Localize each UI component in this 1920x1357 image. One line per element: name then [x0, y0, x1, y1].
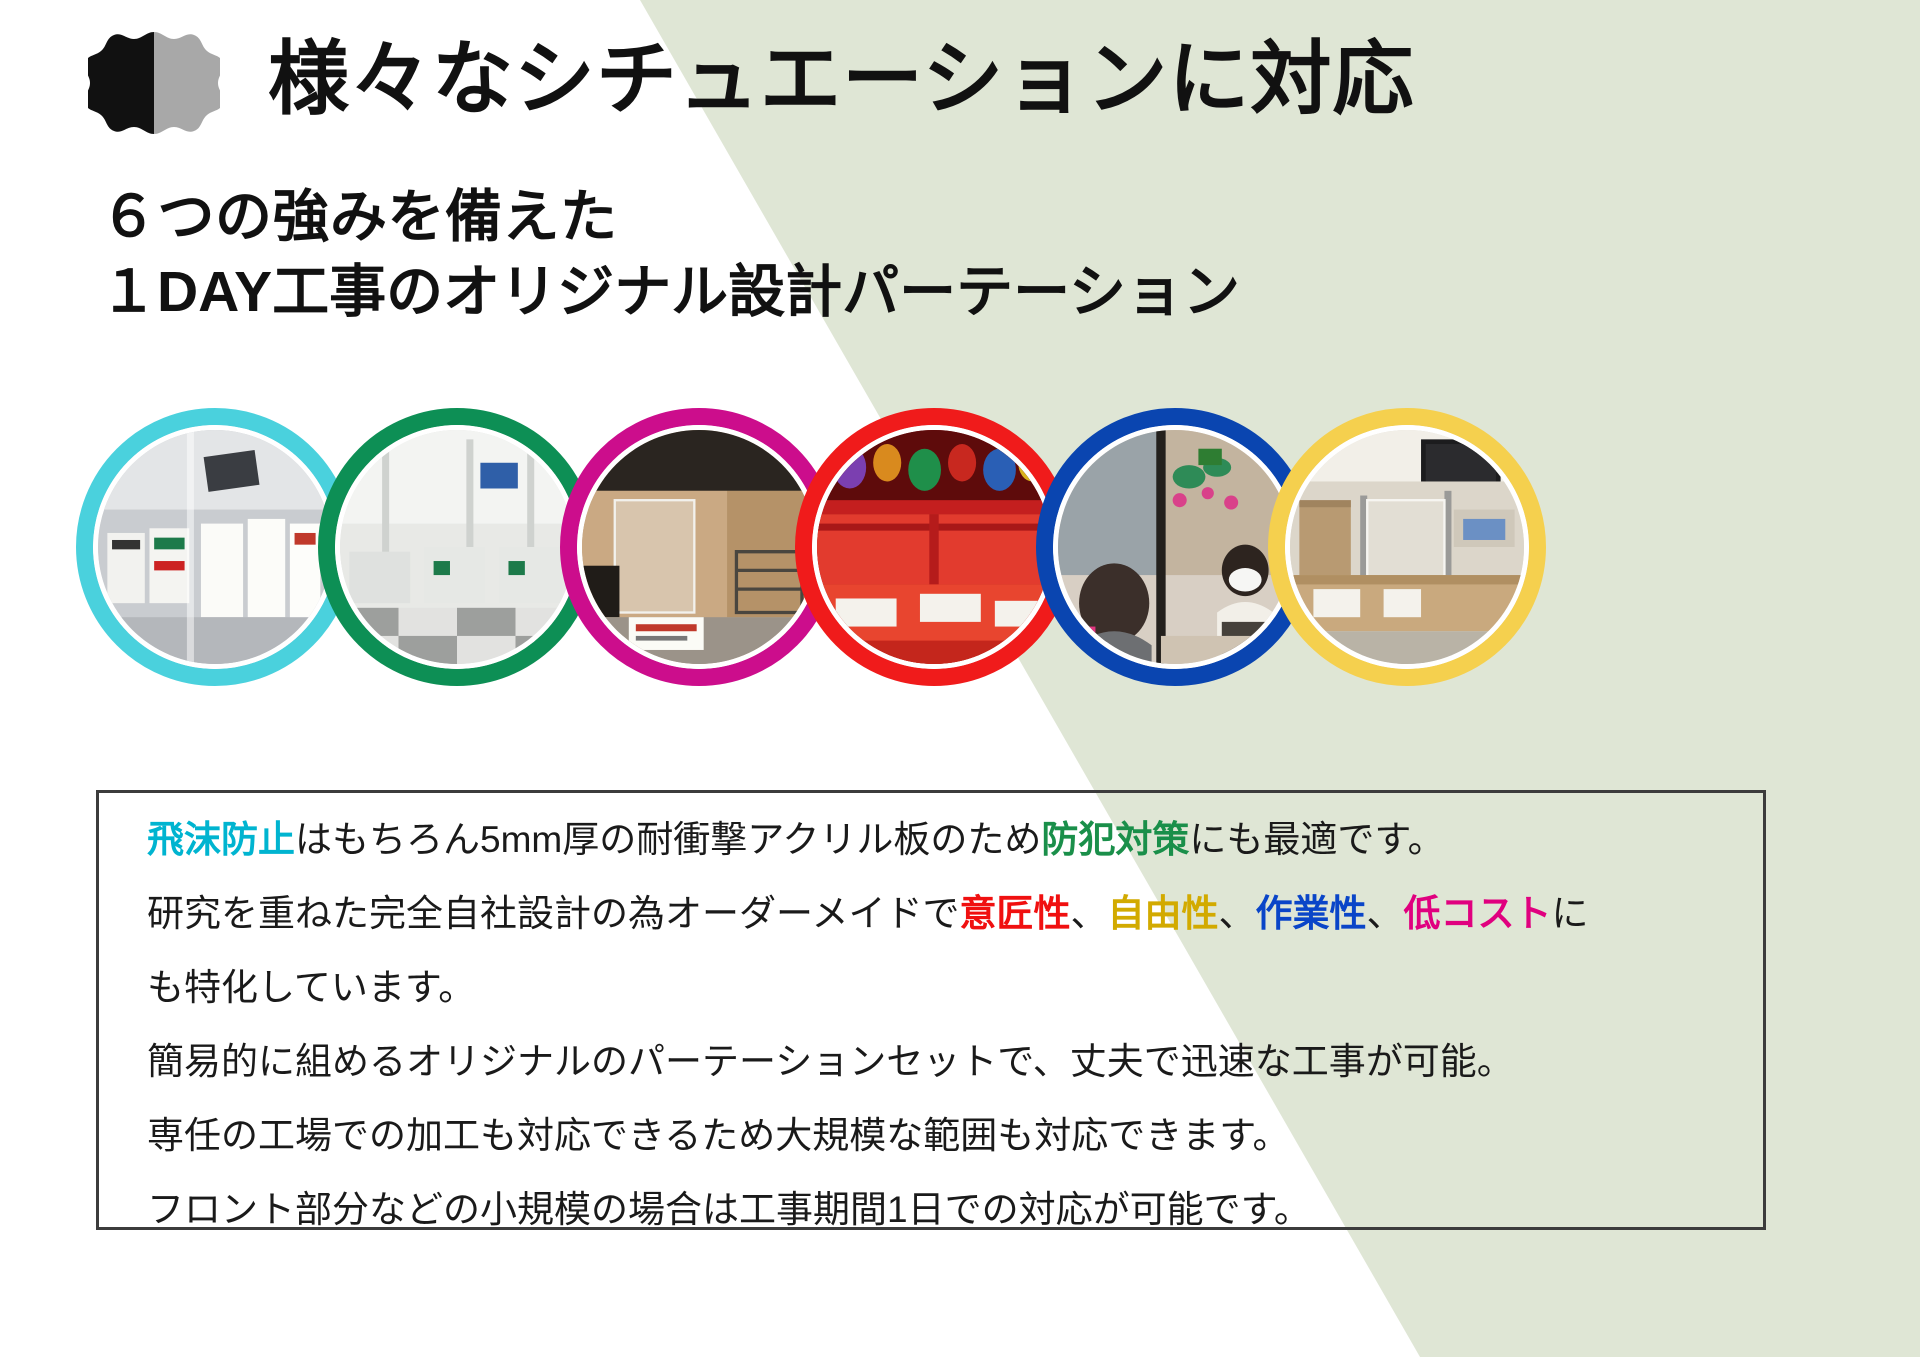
subtitle-block: ６つの強みを備えた １DAY工事のオリジナル設計パーテーション: [100, 180, 1240, 330]
description-line-2-head: 研究を重ねた完全自社設計の為オーダーメイドで: [147, 893, 960, 934]
description-line-1-mid: はもちろん5mm厚の耐衝撃アクリル板のため: [295, 819, 1041, 860]
description-line-1-tail: にも最適です。: [1189, 819, 1444, 860]
subtitle-line-2: １DAY工事のオリジナル設計パーテーション: [100, 255, 1240, 330]
keyword-crime-prevention: 防犯対策: [1041, 819, 1189, 860]
gear-icon: [88, 30, 220, 150]
separator-3: 、: [1367, 893, 1404, 934]
description-line-1: 飛沫防止はもちろん5mm厚の耐衝撃アクリル板のため防犯対策にも最適です。: [147, 821, 1723, 858]
separator-2: 、: [1219, 893, 1256, 934]
hotel-lobby-photo: [577, 425, 821, 669]
photo-circle-2[interactable]: [318, 408, 596, 686]
description-line-2-tail: に: [1552, 893, 1589, 934]
description-line-5: 専任の工場での加工も対応できるため大規模な範囲も対応できます。: [147, 1117, 1723, 1154]
subtitle-line-1: ６つの強みを備えた: [100, 180, 1240, 255]
keyword-freedom: 自由性: [1108, 893, 1219, 934]
keyword-workability: 作業性: [1256, 893, 1367, 934]
pharmacy-counter-photo: [335, 425, 579, 669]
flower-shop-counter-photo: [1053, 425, 1297, 669]
slide-root: 様々なシチュエーションに対応 ６つの強みを備えた １DAY工事のオリジナル設計パ…: [0, 0, 1920, 1357]
description-line-3: も特化しています。: [147, 969, 1723, 1006]
keyword-low-cost: 低コスト: [1404, 893, 1552, 934]
keyword-design: 意匠性: [960, 893, 1071, 934]
description-line-2: 研究を重ねた完全自社設計の為オーダーメイドで意匠性、自由性、作業性、低コストに: [147, 895, 1723, 932]
restaurant-booth-photo: [812, 425, 1056, 669]
keyword-splash-prevention: 飛沫防止: [147, 819, 295, 860]
store-counter-photo: [93, 425, 337, 669]
photo-circle-6[interactable]: [1268, 408, 1546, 686]
photo-circle-row: [0, 408, 1920, 708]
page-title: 様々なシチュエーションに対応: [268, 34, 1414, 127]
separator-1: 、: [1071, 893, 1108, 934]
description-box: 飛沫防止はもちろん5mm厚の耐衝撃アクリル板のため防犯対策にも最適です。 研究を…: [96, 790, 1766, 1230]
pet-shop-counter-photo: [1285, 425, 1529, 669]
description-line-6: フロント部分などの小規模の場合は工事期間1日での対応が可能です。: [147, 1191, 1723, 1228]
description-line-4: 簡易的に組めるオリジナルのパーテーションセットで、丈夫で迅速な工事が可能。: [147, 1043, 1723, 1080]
header: 様々なシチュエーションに対応: [0, 0, 1920, 180]
photo-circle-4[interactable]: [795, 408, 1073, 686]
photo-circle-1[interactable]: [76, 408, 354, 686]
